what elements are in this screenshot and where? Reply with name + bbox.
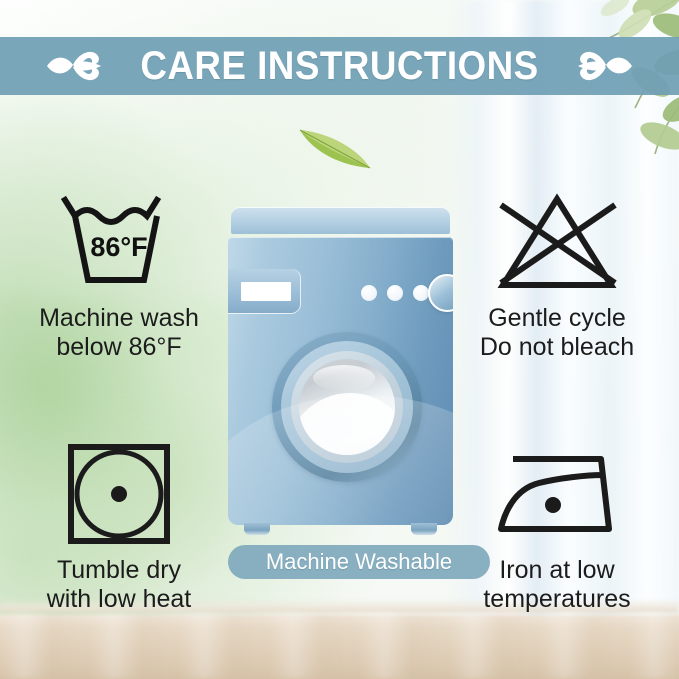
machine-foot [411,523,437,535]
washing-machine-illustration [228,207,453,527]
badge-label: Machine Washable [266,549,452,575]
care-symbol-gentle-cycle-no-bleach: Gentle cycle Do not bleach [452,186,662,361]
machine-door-glass [299,359,395,455]
machine-washable-badge: Machine Washable [228,545,490,579]
floating-leaf-icon [296,120,374,172]
machine-top-lid [231,207,450,234]
machine-door-ring-outer [281,341,413,473]
care-symbol-machine-wash: 86°F Machine wash below 86°F [14,186,224,361]
machine-control-dial [428,274,453,312]
care-symbol-tumble-dry-low: Tumble dry with low heat [14,438,224,613]
header-banner: CARE INSTRUCTIONS [0,37,679,95]
wash-temperature-label: 86°F [55,232,183,263]
machine-buttons [361,285,429,301]
machine-button [413,285,429,301]
care-instructions-infographic: CARE INSTRUCTIONS 86°F Machine wash belo… [0,0,679,679]
machine-button [361,285,377,301]
machine-button [387,285,403,301]
triangle-crossed-out-icon [487,186,627,298]
machine-foot [244,523,270,535]
page-title: CARE INSTRUCTIONS [140,44,538,89]
machine-control-panel [228,269,300,313]
machine-display [241,282,291,301]
wash-tub-icon: 86°F [55,186,183,298]
care-symbol-caption: Tumble dry with low heat [47,556,192,613]
wood-table-surface [0,613,679,679]
care-symbol-iron-low: Iron at low temperatures [452,438,662,613]
tumble-dry-low-heat-icon [63,438,175,550]
care-symbol-caption: Gentle cycle Do not bleach [480,304,634,361]
care-symbol-caption: Iron at low temperatures [483,556,630,613]
machine-door [272,332,422,482]
iron-low-temperature-icon [491,438,623,550]
fleur-de-lis-icon [574,44,634,88]
machine-body [228,237,453,525]
care-symbol-caption: Machine wash below 86°F [39,304,199,361]
machine-door-ring-inner [291,351,403,463]
fleur-de-lis-icon [45,44,105,88]
